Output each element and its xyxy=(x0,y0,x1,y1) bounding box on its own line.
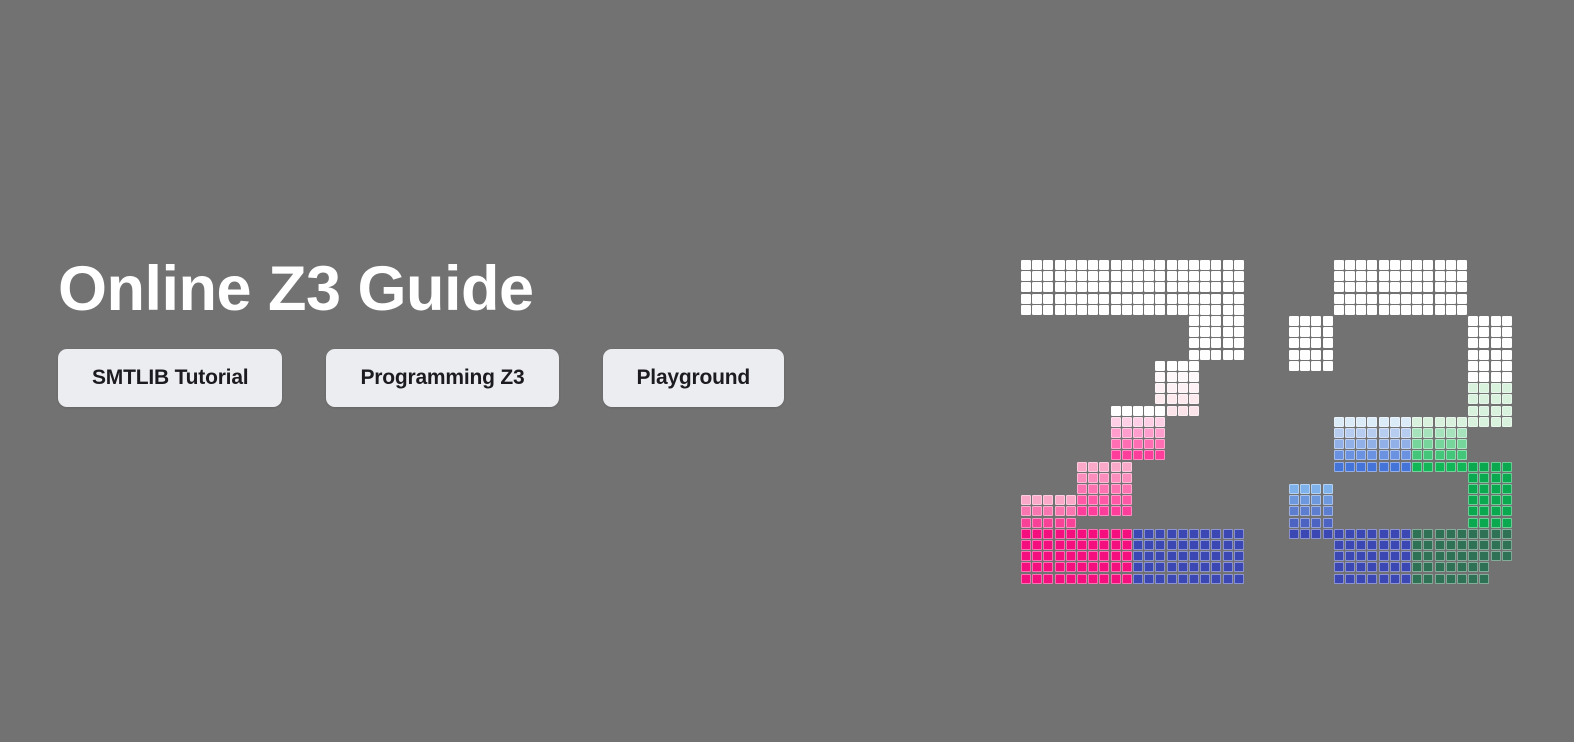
logo-pixel xyxy=(1111,506,1121,516)
logo-pixel xyxy=(1088,260,1098,270)
logo-pixel xyxy=(1144,260,1154,270)
logo-pixel xyxy=(1401,271,1411,281)
logo-pixel xyxy=(1345,305,1355,315)
logo-pixel xyxy=(1055,282,1065,292)
logo-pixel xyxy=(1043,271,1053,281)
logo-pixel xyxy=(1200,551,1210,561)
logo-pixel xyxy=(1367,271,1377,281)
logo-pixel xyxy=(1468,529,1478,539)
logo-pixel xyxy=(1077,506,1087,516)
logo-pixel xyxy=(1457,282,1467,292)
logo-pixel xyxy=(1234,260,1244,270)
logo-pixel xyxy=(1412,551,1422,561)
logo-pixel xyxy=(1435,282,1445,292)
logo-pixel xyxy=(1345,439,1355,449)
logo-pixel xyxy=(1401,462,1411,472)
logo-pixel xyxy=(1479,574,1489,584)
logo-pixel xyxy=(1200,350,1210,360)
logo-pixel xyxy=(1412,450,1422,460)
logo-pixel xyxy=(1356,529,1366,539)
logo-pixel xyxy=(1099,484,1109,494)
logo-pixel xyxy=(1189,338,1199,348)
logo-pixel xyxy=(1379,260,1389,270)
logo-pixel xyxy=(1479,540,1489,550)
logo-pixel xyxy=(1457,271,1467,281)
logo-pixel xyxy=(1323,484,1333,494)
hero-section: Online Z3 Guide SMTLIB Tutorial Programm… xyxy=(0,0,1574,742)
logo-pixel xyxy=(1032,294,1042,304)
logo-pixel xyxy=(1032,506,1042,516)
logo-pixel xyxy=(1479,562,1489,572)
logo-pixel xyxy=(1289,327,1299,337)
logo-pixel xyxy=(1479,350,1489,360)
logo-pixel xyxy=(1289,529,1299,539)
logo-pixel xyxy=(1435,294,1445,304)
logo-pixel xyxy=(1144,450,1154,460)
logo-pixel xyxy=(1446,294,1456,304)
logo-pixel xyxy=(1390,417,1400,427)
logo-pixel xyxy=(1167,394,1177,404)
logo-pixel xyxy=(1122,417,1132,427)
logo-pixel xyxy=(1021,282,1031,292)
logo-pixel xyxy=(1155,294,1165,304)
logo-pixel xyxy=(1491,529,1501,539)
logo-pixel xyxy=(1457,428,1467,438)
logo-pixel xyxy=(1077,271,1087,281)
logo-pixel xyxy=(1021,506,1031,516)
logo-pixel xyxy=(1479,361,1489,371)
logo-pixel xyxy=(1133,540,1143,550)
logo-pixel xyxy=(1300,484,1310,494)
logo-pixel xyxy=(1367,282,1377,292)
logo-pixel xyxy=(1446,562,1456,572)
logo-pixel xyxy=(1178,540,1188,550)
logo-pixel xyxy=(1379,271,1389,281)
nav-button-group: SMTLIB Tutorial Programming Z3 Playgroun… xyxy=(58,349,958,407)
logo-pixel xyxy=(1189,350,1199,360)
logo-pixel xyxy=(1178,372,1188,382)
logo-pixel xyxy=(1099,551,1109,561)
logo-pixel xyxy=(1111,495,1121,505)
logo-pixel xyxy=(1323,495,1333,505)
logo-pixel xyxy=(1144,406,1154,416)
logo-pixel xyxy=(1289,338,1299,348)
logo-pixel xyxy=(1502,417,1512,427)
logo-pixel xyxy=(1155,551,1165,561)
logo-pixel xyxy=(1223,529,1233,539)
logo-pixel xyxy=(1401,417,1411,427)
logo-pixel xyxy=(1323,338,1333,348)
logo-pixel xyxy=(1401,282,1411,292)
logo-pixel xyxy=(1122,562,1132,572)
logo-pixel xyxy=(1311,361,1321,371)
logo-pixel xyxy=(1032,562,1042,572)
logo-pixel xyxy=(1111,540,1121,550)
logo-pixel xyxy=(1032,540,1042,550)
logo-pixel xyxy=(1021,574,1031,584)
logo-pixel xyxy=(1133,529,1143,539)
logo-pixel xyxy=(1167,260,1177,270)
logo-pixel xyxy=(1379,574,1389,584)
logo-pixel xyxy=(1043,506,1053,516)
logo-pixel xyxy=(1133,271,1143,281)
logo-pixel xyxy=(1155,450,1165,460)
logo-pixel xyxy=(1502,495,1512,505)
logo-pixel xyxy=(1390,529,1400,539)
logo-pixel xyxy=(1491,350,1501,360)
logo-pixel xyxy=(1111,473,1121,483)
logo-pixel xyxy=(1446,574,1456,584)
logo-pixel xyxy=(1234,574,1244,584)
logo-pixel xyxy=(1311,495,1321,505)
logo-pixel xyxy=(1390,260,1400,270)
logo-pixel xyxy=(1200,316,1210,326)
logo-pixel xyxy=(1200,338,1210,348)
logo-pixel xyxy=(1356,450,1366,460)
logo-pixel xyxy=(1021,540,1031,550)
logo-pixel xyxy=(1491,518,1501,528)
logo-pixel xyxy=(1468,406,1478,416)
logo-pixel xyxy=(1021,518,1031,528)
logo-pixel xyxy=(1457,562,1467,572)
logo-pixel xyxy=(1491,372,1501,382)
logo-pixel xyxy=(1223,540,1233,550)
logo-pixel xyxy=(1088,271,1098,281)
logo-pixel xyxy=(1311,316,1321,326)
logo-pixel xyxy=(1379,462,1389,472)
logo-pixel xyxy=(1435,562,1445,572)
logo-pixel xyxy=(1223,338,1233,348)
logo-pixel xyxy=(1491,462,1501,472)
logo-pixel xyxy=(1200,282,1210,292)
logo-pixel xyxy=(1178,529,1188,539)
logo-pixel xyxy=(1468,473,1478,483)
logo-pixel xyxy=(1211,282,1221,292)
logo-pixel xyxy=(1155,361,1165,371)
logo-pixel xyxy=(1077,562,1087,572)
logo-pixel xyxy=(1043,551,1053,561)
logo-pixel xyxy=(1211,540,1221,550)
logo-pixel xyxy=(1155,574,1165,584)
logo-pixel xyxy=(1401,562,1411,572)
logo-pixel xyxy=(1446,305,1456,315)
logo-pixel xyxy=(1043,518,1053,528)
logo-pixel xyxy=(1289,495,1299,505)
logo-pixel xyxy=(1300,506,1310,516)
logo-pixel xyxy=(1133,294,1143,304)
logo-pixel xyxy=(1200,574,1210,584)
logo-pixel xyxy=(1491,383,1501,393)
logo-pixel xyxy=(1356,428,1366,438)
logo-pixel xyxy=(1032,495,1042,505)
logo-pixel xyxy=(1066,529,1076,539)
logo-pixel xyxy=(1088,305,1098,315)
logo-pixel xyxy=(1144,305,1154,315)
logo-pixel xyxy=(1491,484,1501,494)
logo-pixel xyxy=(1178,562,1188,572)
glyph-z-grid xyxy=(1021,260,1245,585)
logo-pixel xyxy=(1189,394,1199,404)
logo-pixel xyxy=(1502,529,1512,539)
logo-pixel xyxy=(1491,327,1501,337)
logo-pixel xyxy=(1077,529,1087,539)
logo-pixel xyxy=(1502,316,1512,326)
logo-glyph-z xyxy=(1021,260,1245,585)
logo-pixel xyxy=(1356,282,1366,292)
logo-pixel xyxy=(1211,260,1221,270)
logo-pixel xyxy=(1032,574,1042,584)
logo-pixel xyxy=(1300,350,1310,360)
logo-pixel xyxy=(1122,439,1132,449)
logo-pixel xyxy=(1189,260,1199,270)
logo-pixel xyxy=(1334,439,1344,449)
logo-pixel xyxy=(1088,495,1098,505)
logo-pixel xyxy=(1021,260,1031,270)
logo-pixel xyxy=(1468,562,1478,572)
logo-pixel xyxy=(1122,428,1132,438)
logo-pixel xyxy=(1502,518,1512,528)
logo-pixel xyxy=(1491,551,1501,561)
logo-pixel xyxy=(1066,540,1076,550)
logo-pixel xyxy=(1021,271,1031,281)
logo-pixel xyxy=(1066,551,1076,561)
logo-pixel xyxy=(1077,462,1087,472)
logo-pixel xyxy=(1111,282,1121,292)
logo-pixel xyxy=(1300,316,1310,326)
logo-pixel xyxy=(1155,562,1165,572)
logo-pixel xyxy=(1111,294,1121,304)
logo-pixel xyxy=(1200,540,1210,550)
logo-pixel xyxy=(1211,294,1221,304)
logo-pixel xyxy=(1502,383,1512,393)
logo-pixel xyxy=(1167,372,1177,382)
logo-pixel xyxy=(1423,540,1433,550)
logo-pixel xyxy=(1345,551,1355,561)
logo-pixel xyxy=(1289,518,1299,528)
logo-pixel xyxy=(1502,551,1512,561)
logo-pixel xyxy=(1211,305,1221,315)
logo-pixel xyxy=(1334,271,1344,281)
logo-pixel xyxy=(1479,338,1489,348)
logo-pixel xyxy=(1099,305,1109,315)
logo-pixel xyxy=(1423,271,1433,281)
logo-pixel xyxy=(1468,484,1478,494)
logo-pixel xyxy=(1479,394,1489,404)
logo-pixel xyxy=(1167,294,1177,304)
logo-pixel xyxy=(1479,372,1489,382)
logo-pixel xyxy=(1122,271,1132,281)
logo-pixel xyxy=(1111,450,1121,460)
logo-pixel xyxy=(1479,551,1489,561)
logo-pixel xyxy=(1133,406,1143,416)
logo-pixel xyxy=(1345,450,1355,460)
logo-pixel xyxy=(1189,327,1199,337)
logo-pixel xyxy=(1379,529,1389,539)
logo-pixel xyxy=(1468,361,1478,371)
logo-pixel xyxy=(1300,529,1310,539)
logo-pixel xyxy=(1379,282,1389,292)
logo-pixel xyxy=(1189,529,1199,539)
logo-pixel xyxy=(1367,439,1377,449)
logo-pixel xyxy=(1178,394,1188,404)
logo-pixel xyxy=(1032,551,1042,561)
logo-pixel xyxy=(1155,394,1165,404)
logo-pixel xyxy=(1435,271,1445,281)
logo-pixel xyxy=(1234,294,1244,304)
logo-pixel xyxy=(1390,439,1400,449)
logo-pixel xyxy=(1390,271,1400,281)
logo-pixel xyxy=(1334,529,1344,539)
logo-pixel xyxy=(1457,551,1467,561)
logo-pixel xyxy=(1435,305,1445,315)
logo-pixel xyxy=(1367,450,1377,460)
logo-glyph-3 xyxy=(1289,260,1513,585)
logo-pixel xyxy=(1334,282,1344,292)
logo-pixel xyxy=(1446,282,1456,292)
logo-pixel xyxy=(1077,260,1087,270)
logo-pixel xyxy=(1155,439,1165,449)
logo-pixel xyxy=(1055,506,1065,516)
logo-pixel xyxy=(1468,574,1478,584)
logo-pixel xyxy=(1323,361,1333,371)
logo-pixel xyxy=(1167,574,1177,584)
z3-pixel-logo xyxy=(1021,260,1521,585)
logo-pixel xyxy=(1311,484,1321,494)
logo-pixel xyxy=(1111,417,1121,427)
logo-pixel xyxy=(1088,473,1098,483)
logo-pixel xyxy=(1077,473,1087,483)
logo-pixel xyxy=(1502,473,1512,483)
logo-pixel xyxy=(1211,327,1221,337)
logo-pixel xyxy=(1491,506,1501,516)
logo-pixel xyxy=(1446,428,1456,438)
logo-pixel xyxy=(1502,540,1512,550)
logo-pixel xyxy=(1435,529,1445,539)
logo-pixel xyxy=(1356,462,1366,472)
logo-pixel xyxy=(1379,450,1389,460)
logo-pixel xyxy=(1234,282,1244,292)
logo-pixel xyxy=(1055,562,1065,572)
logo-pixel xyxy=(1446,260,1456,270)
logo-pixel xyxy=(1111,305,1121,315)
logo-pixel xyxy=(1122,260,1132,270)
logo-pixel xyxy=(1401,450,1411,460)
logo-pixel xyxy=(1379,551,1389,561)
logo-pixel xyxy=(1133,551,1143,561)
hero-text-column: Online Z3 Guide SMTLIB Tutorial Programm… xyxy=(58,258,958,407)
logo-pixel xyxy=(1457,540,1467,550)
logo-pixel xyxy=(1379,540,1389,550)
logo-pixel xyxy=(1144,574,1154,584)
logo-pixel xyxy=(1211,350,1221,360)
logo-pixel xyxy=(1367,305,1377,315)
logo-pixel xyxy=(1334,305,1344,315)
logo-pixel xyxy=(1345,428,1355,438)
logo-pixel xyxy=(1144,551,1154,561)
logo-pixel xyxy=(1502,406,1512,416)
logo-pixel xyxy=(1468,394,1478,404)
logo-pixel xyxy=(1412,417,1422,427)
logo-pixel xyxy=(1379,417,1389,427)
logo-pixel xyxy=(1502,394,1512,404)
logo-pixel xyxy=(1300,338,1310,348)
logo-pixel xyxy=(1390,282,1400,292)
logo-pixel xyxy=(1390,428,1400,438)
logo-pixel xyxy=(1446,540,1456,550)
logo-pixel xyxy=(1223,294,1233,304)
logo-pixel xyxy=(1066,518,1076,528)
playground-button[interactable]: Playground xyxy=(603,349,785,407)
logo-pixel xyxy=(1144,439,1154,449)
logo-pixel xyxy=(1379,439,1389,449)
logo-pixel xyxy=(1111,271,1121,281)
logo-pixel xyxy=(1178,271,1188,281)
logo-pixel xyxy=(1367,551,1377,561)
logo-pixel xyxy=(1043,282,1053,292)
logo-pixel xyxy=(1055,551,1065,561)
logo-pixel xyxy=(1457,260,1467,270)
logo-pixel xyxy=(1479,518,1489,528)
smtlib-tutorial-button[interactable]: SMTLIB Tutorial xyxy=(58,349,282,407)
logo-pixel xyxy=(1435,540,1445,550)
logo-pixel xyxy=(1088,540,1098,550)
logo-pixel xyxy=(1479,327,1489,337)
logo-pixel xyxy=(1289,316,1299,326)
logo-pixel xyxy=(1468,540,1478,550)
logo-pixel xyxy=(1491,417,1501,427)
logo-pixel xyxy=(1133,305,1143,315)
logo-pixel xyxy=(1223,316,1233,326)
logo-pixel xyxy=(1122,282,1132,292)
logo-pixel xyxy=(1457,529,1467,539)
logo-pixel xyxy=(1356,562,1366,572)
logo-pixel xyxy=(1223,282,1233,292)
logo-pixel xyxy=(1491,361,1501,371)
logo-pixel xyxy=(1356,540,1366,550)
logo-pixel xyxy=(1300,495,1310,505)
logo-pixel xyxy=(1502,484,1512,494)
programming-z3-button[interactable]: Programming Z3 xyxy=(326,349,558,407)
logo-pixel xyxy=(1446,417,1456,427)
logo-pixel xyxy=(1133,282,1143,292)
logo-pixel xyxy=(1178,282,1188,292)
logo-pixel xyxy=(1178,551,1188,561)
logo-pixel xyxy=(1200,305,1210,315)
logo-pixel xyxy=(1289,484,1299,494)
logo-pixel xyxy=(1412,428,1422,438)
logo-pixel xyxy=(1401,574,1411,584)
logo-pixel xyxy=(1491,540,1501,550)
logo-pixel xyxy=(1122,473,1132,483)
logo-pixel xyxy=(1144,529,1154,539)
logo-pixel xyxy=(1088,484,1098,494)
logo-pixel xyxy=(1066,495,1076,505)
logo-pixel xyxy=(1423,282,1433,292)
logo-pixel xyxy=(1356,417,1366,427)
logo-pixel xyxy=(1468,551,1478,561)
logo-pixel xyxy=(1412,540,1422,550)
logo-pixel xyxy=(1223,260,1233,270)
logo-pixel xyxy=(1066,260,1076,270)
logo-pixel xyxy=(1189,574,1199,584)
logo-pixel xyxy=(1178,260,1188,270)
logo-pixel xyxy=(1122,540,1132,550)
logo-pixel xyxy=(1077,495,1087,505)
logo-pixel xyxy=(1446,551,1456,561)
logo-pixel xyxy=(1479,383,1489,393)
logo-pixel xyxy=(1479,406,1489,416)
logo-pixel xyxy=(1379,428,1389,438)
